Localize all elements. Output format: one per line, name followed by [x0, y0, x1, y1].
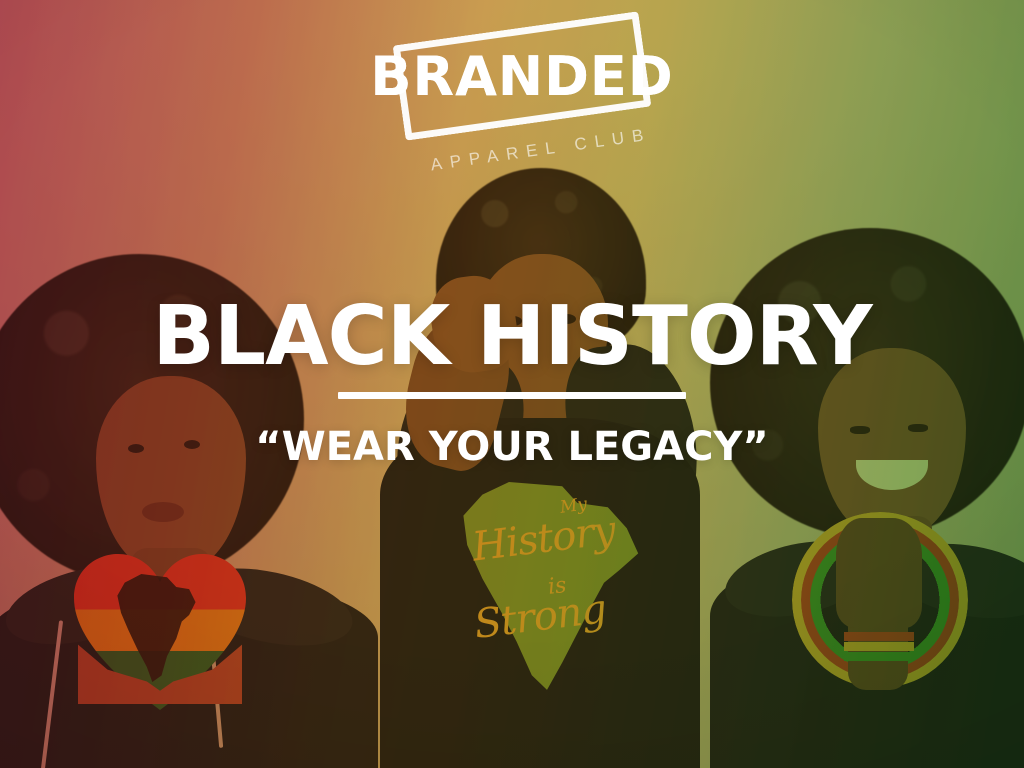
title-divider: [338, 392, 686, 399]
brand-name: BRANDED: [410, 40, 634, 112]
poster-canvas: My History is Strong BRANDED APPAREL CLU…: [0, 0, 1024, 768]
brand-logo[interactable]: BRANDED APPAREL CLUB: [398, 28, 660, 178]
page-title: BLACK HISTORY: [0, 296, 1024, 378]
tagline: “WEAR YOUR LEGACY”: [0, 424, 1024, 470]
